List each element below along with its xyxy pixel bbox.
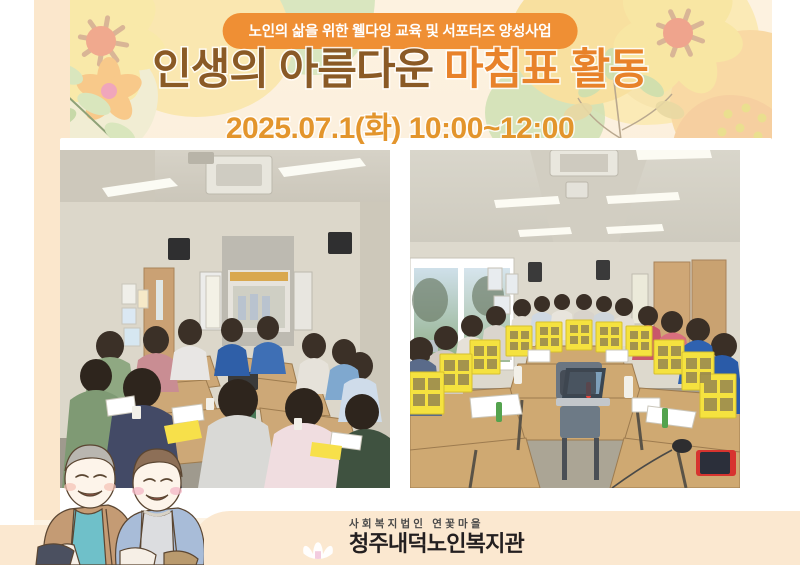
page-title: 인생의 아름다운 마침표 활동 [0, 48, 800, 93]
title-part-accent: 마침표 활동 [444, 46, 648, 94]
footer-text-block: 사회복지법인 연꽃마을 청주내덕노인복지관 [349, 519, 524, 556]
lotus-logo-icon [296, 515, 340, 559]
footer-logo-block: 사회복지법인 연꽃마을 청주내덕노인복지관 [296, 515, 524, 559]
event-program-banner: 노인의 삶을 위한 웰다잉 교육 및 서포터즈 양성사업 [223, 13, 578, 49]
title-part-primary: 인생의 아름다운 [152, 46, 444, 94]
event-datetime: 2025.07.1(화) 10:00~12:00 [0, 103, 800, 147]
poster-canvas: 노인의 삶을 위한 웰다잉 교육 및 서포터즈 양성사업 인생의 아름다운 마침… [0, 0, 800, 565]
couple-graphic [24, 405, 204, 565]
organization-name: 청주내덕노인복지관 [349, 533, 524, 555]
photo-right-graphic [410, 150, 740, 488]
elderly-couple-illustration [24, 405, 204, 565]
lotus-glyph [296, 533, 340, 559]
organization-type: 사회복지법인 연꽃마을 [349, 519, 524, 530]
photo-lecture-room-right [410, 150, 740, 488]
